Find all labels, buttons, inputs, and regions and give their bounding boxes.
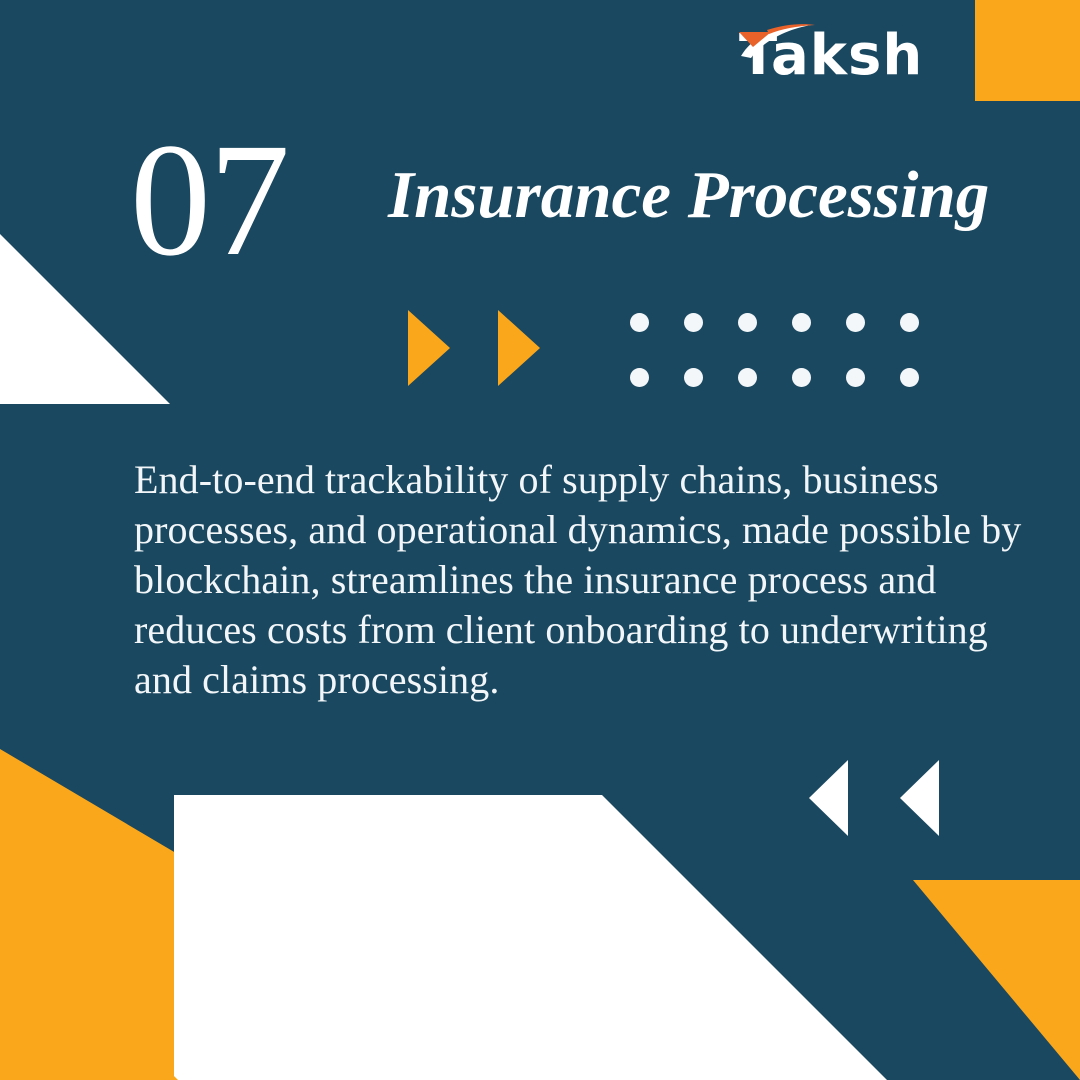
swoosh-arrow-icon: [737, 22, 855, 62]
grid-dot: [846, 313, 865, 332]
headline-group: 07 Insurance Processing: [130, 126, 1010, 276]
grid-dot: [684, 368, 703, 387]
back-arrow-icon: [809, 760, 848, 836]
bottom-right-orange-triangle: [880, 880, 1080, 1080]
diagonal-orange-stripe: [0, 700, 1080, 1080]
bottom-left-orange-triangle: [0, 745, 560, 1080]
body-text: End-to-end trackability of supply chains…: [134, 455, 1024, 705]
grid-dot: [630, 313, 649, 332]
grid-dot: [738, 313, 757, 332]
grid-dot: [630, 368, 649, 387]
brand-logo[interactable]: Taksh: [735, 22, 923, 84]
grid-dot: [846, 368, 865, 387]
diagonal-white-band: [0, 700, 1080, 1080]
grid-dot: [900, 368, 919, 387]
play-arrow-icon: [498, 310, 540, 386]
slide-number: 07: [130, 126, 288, 276]
grid-dot: [900, 313, 919, 332]
grid-dot: [684, 313, 703, 332]
decorative-divider: [408, 308, 938, 388]
play-arrow-icon: [408, 310, 450, 386]
top-right-orange-square: [975, 0, 1080, 101]
page-title: Insurance Processing: [388, 152, 989, 238]
grid-dot: [792, 368, 811, 387]
dot-grid: [630, 313, 954, 423]
back-arrow-icon: [900, 760, 939, 836]
grid-dot: [738, 368, 757, 387]
social-post-slide: Taksh 07 Insurance Processing End-to-end…: [0, 0, 1080, 1080]
grid-dot: [792, 313, 811, 332]
